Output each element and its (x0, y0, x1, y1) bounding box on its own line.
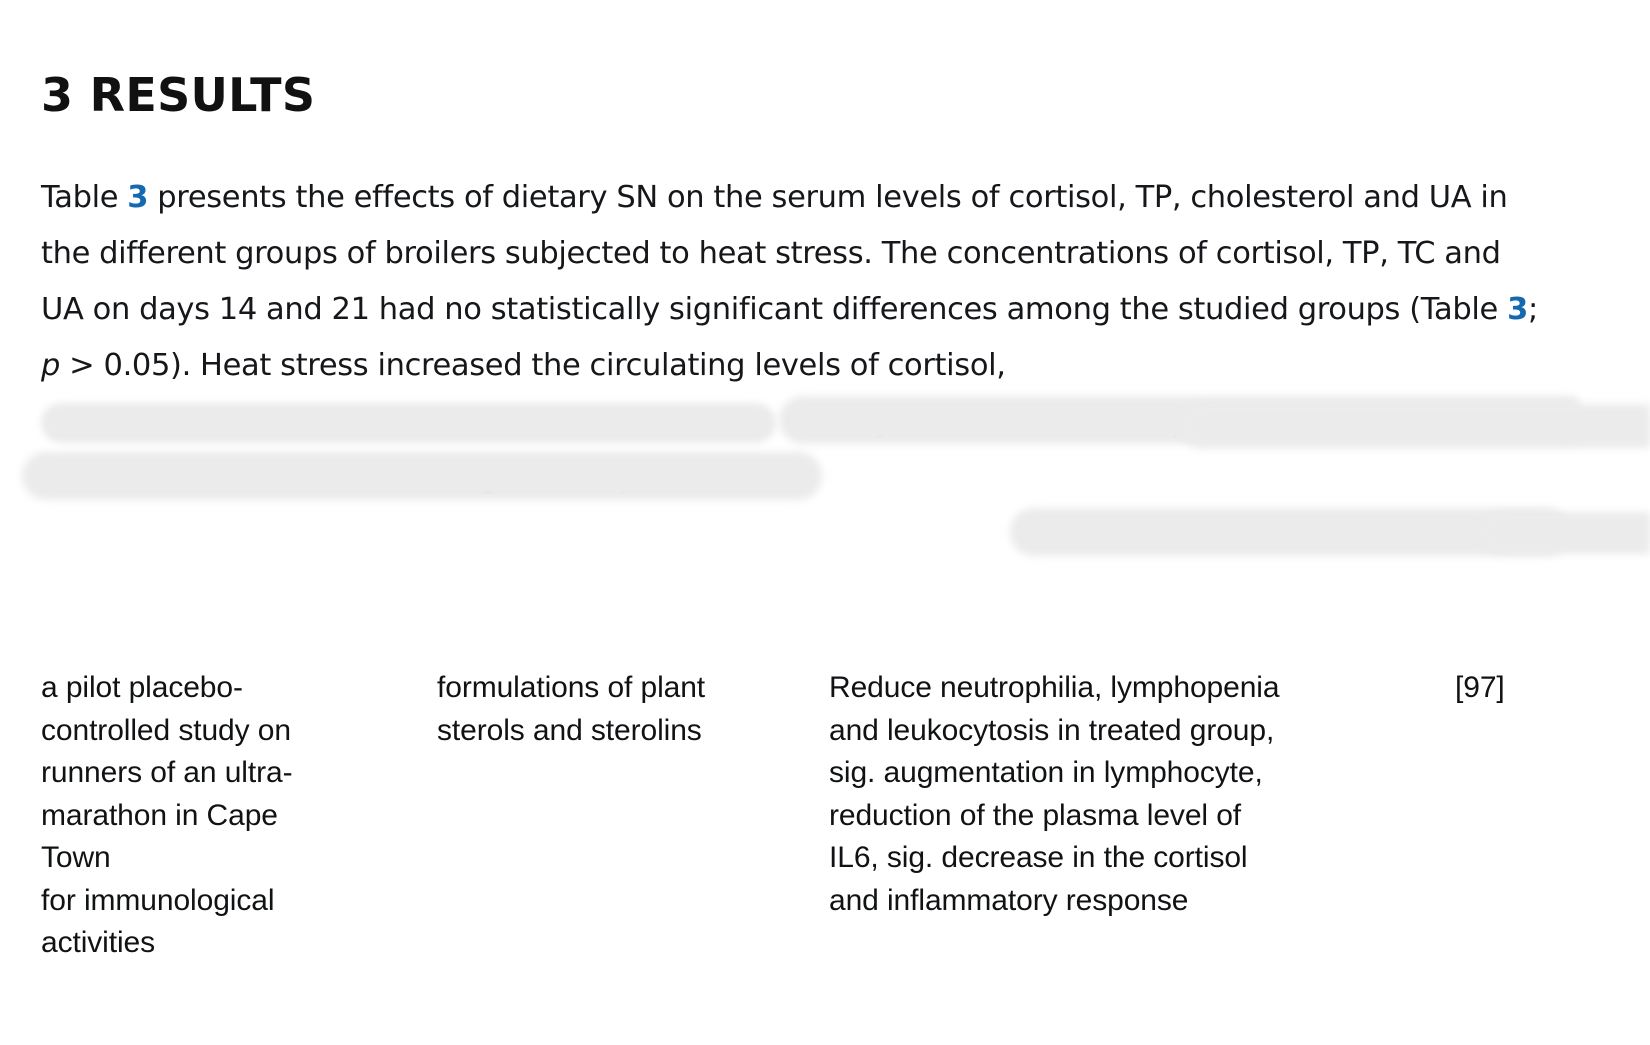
table-reference-link-1[interactable]: 3 (127, 180, 148, 215)
table-row: a pilot placebo- controlled study on run… (0, 655, 1650, 985)
table-cell-reference[interactable]: [97] (1455, 667, 1595, 710)
paragraph-text-4: > 0.05). Heat stress increased the circu… (60, 348, 1006, 383)
page-title: 3 RESULTS (41, 72, 315, 118)
redaction-block-1-tail (1180, 404, 1650, 448)
table-cell-intervention: formulations of plant sterols and sterol… (437, 667, 807, 752)
paragraph-text-1: Table (41, 180, 127, 215)
redaction-block-inline-1 (41, 403, 776, 443)
paragraph-text-2: presents the effects of dietary SN on th… (41, 180, 1508, 327)
table-cell-study: a pilot placebo- controlled study on run… (41, 667, 421, 965)
redaction-block-3-tail (1480, 512, 1650, 554)
table-cell-outcome: Reduce neutrophilia, lymphopenia and leu… (829, 667, 1429, 922)
p-value-symbol: p (41, 348, 60, 383)
document-page: 3 RESULTS Table 3 presents the effects o… (0, 0, 1650, 1045)
table-reference-link-2[interactable]: 3 (1507, 292, 1528, 327)
paragraph-text-3: ; (1528, 292, 1538, 327)
redaction-block-2 (22, 452, 822, 500)
